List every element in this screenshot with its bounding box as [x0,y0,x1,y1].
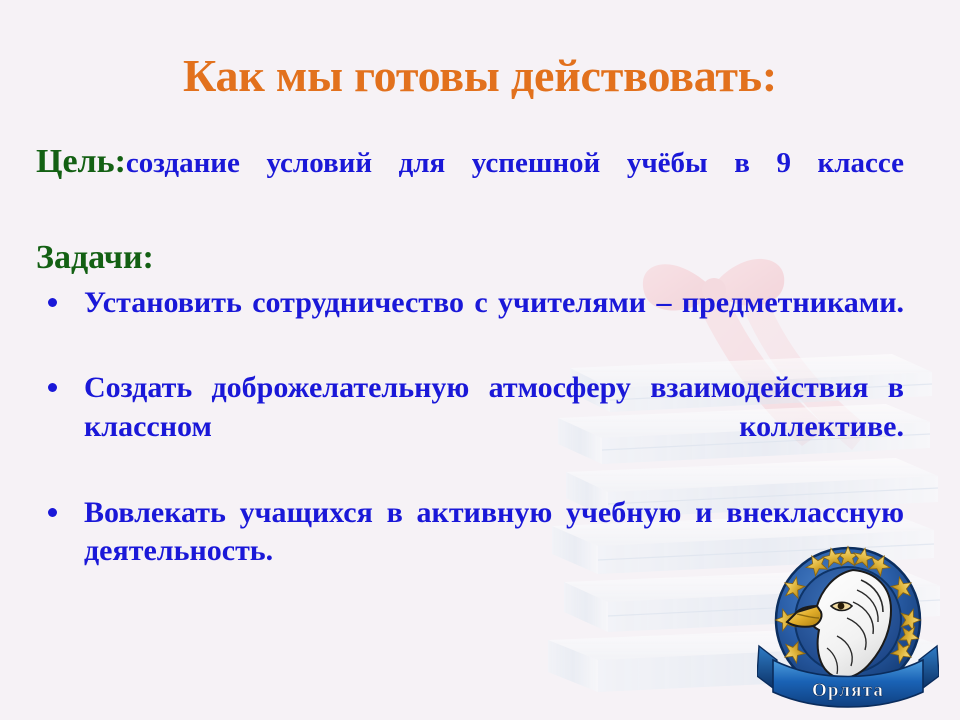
bullet-icon [48,508,57,517]
orlyata-emblem: Орлята [757,536,939,716]
bullet-icon [48,298,57,307]
slide-canvas: Как мы готовы действовать: Цель:создание… [0,0,960,720]
page-title: Как мы готовы действовать: [0,52,960,100]
list-item: Установить сотрудничество с учителями – … [36,284,904,361]
goal-paragraph: Цель:создание условий для успешной учёбы… [36,140,904,224]
list-item-text: Установить сотрудничество с учителями – … [84,286,904,357]
bullet-icon [48,383,57,392]
list-item-text: Создать доброжелательную атмосферу взаим… [84,371,904,481]
list-item: Создать доброжелательную атмосферу взаим… [36,369,904,484]
goal-text: создание условий для успешной учёбы в 9 … [126,147,904,179]
tasks-label: Задачи: [36,238,904,277]
goal-label: Цель: [36,143,126,180]
emblem-banner-text: Орлята [812,680,884,701]
